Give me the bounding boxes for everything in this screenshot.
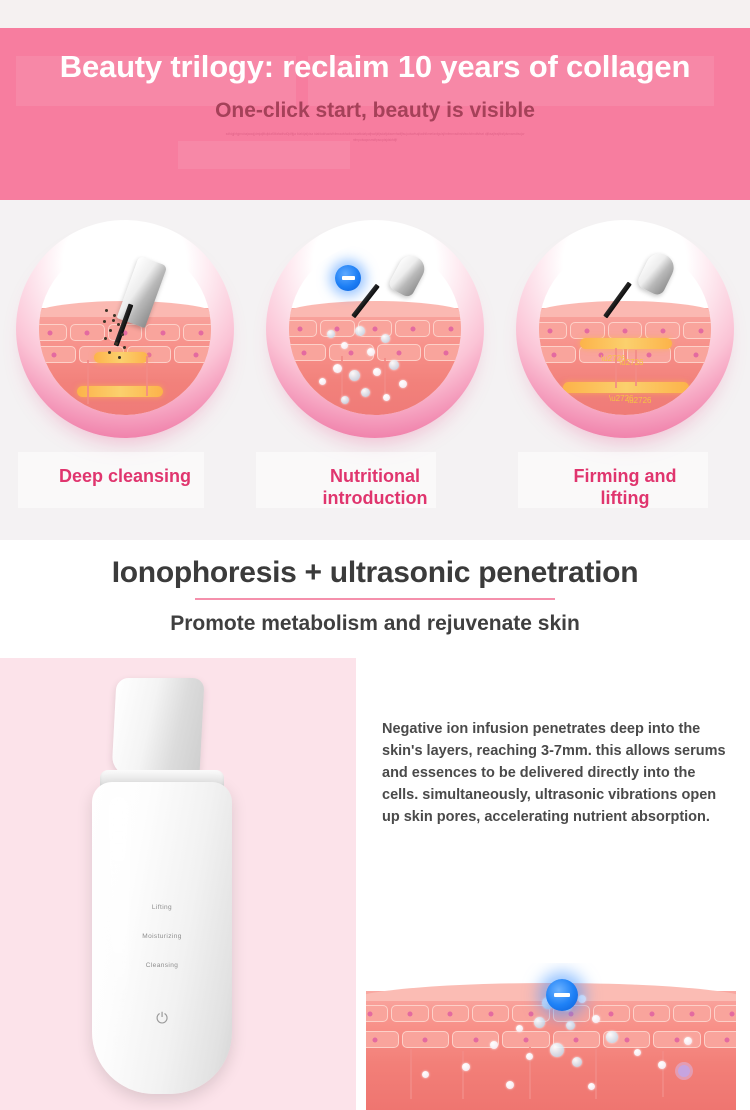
feature-label-line: Deep cleansing (59, 466, 191, 488)
circle-frame: \u2726 \u2726 \u2726 \u2726 (516, 220, 734, 438)
negative-ion-icon (546, 979, 578, 1011)
skin-cleansing-illustration (39, 243, 211, 415)
device-image: Lifting Moisturizing Cleansing ⏻ (74, 678, 274, 1098)
feature-label: Deep cleansing (59, 466, 191, 488)
skin-nutrition-illustration (289, 243, 461, 415)
feature-label: Firming and lifting (574, 466, 677, 509)
section-subtitle: Promote metabolism and rejuvenate skin (0, 612, 750, 636)
debris-particles (101, 309, 135, 361)
device-mode-lifting: Lifting (92, 904, 232, 911)
power-icon: ⏻ (92, 1010, 232, 1027)
skin-layer (366, 991, 736, 1110)
feature-label-line: Nutritional (323, 466, 428, 488)
hero-subtitle: One-click start, beauty is visible (0, 99, 750, 123)
mid-heading-section: Ionophoresis + ultrasonic penetration Pr… (0, 540, 750, 658)
subtitle-highlight-box (178, 141, 350, 169)
section-title: Ionophoresis + ultrasonic penetration (0, 556, 750, 590)
skin-layer: \u2726 \u2726 \u2726 \u2726 (539, 308, 711, 415)
feature-nutritional-introduction[interactable]: Nutritional introduction (250, 200, 500, 540)
description-panel: Negative ion infusion penetrates deep in… (356, 658, 750, 1110)
feature-firming-lifting[interactable]: \u2726 \u2726 \u2726 \u2726 Firming and … (500, 200, 750, 540)
feature-deep-cleansing[interactable]: Deep cleansing (0, 200, 250, 540)
skin-cross-section-illustration (366, 963, 736, 1110)
top-spacer-strip (0, 0, 750, 28)
description-paragraph: Negative ion infusion penetrates deep in… (382, 718, 732, 828)
hero-banner: Beauty trilogy: reclaim 10 years of coll… (0, 28, 750, 200)
negative-ion-icon (335, 265, 361, 291)
feature-label-line: Firming and (574, 466, 677, 488)
bottom-section: Lifting Moisturizing Cleansing ⏻ Negativ… (0, 658, 750, 1110)
device-mode-moisturizing: Moisturizing (92, 933, 232, 940)
device-mode-cleansing: Cleansing (92, 962, 232, 969)
circle-frame (266, 220, 484, 438)
skin-layer (289, 308, 461, 415)
feature-label-line: introduction (323, 488, 428, 510)
device-photo-panel: Lifting Moisturizing Cleansing ⏻ (0, 658, 356, 1110)
device-body: Lifting Moisturizing Cleansing ⏻ (92, 782, 232, 1094)
hero-title-wrap: Beauty trilogy: reclaim 10 years of coll… (50, 28, 700, 85)
feature-label-line: lifting (574, 488, 677, 510)
features-section: Deep cleansing (0, 200, 750, 540)
hero-title: Beauty trilogy: reclaim 10 years of coll… (50, 48, 700, 85)
minus-glyph (342, 276, 355, 280)
probe-head-icon (387, 251, 429, 299)
title-underline (195, 598, 555, 600)
nerve-cell (678, 1065, 690, 1077)
minus-glyph (554, 993, 570, 997)
device-probe-head (111, 678, 204, 776)
circle-frame (16, 220, 234, 438)
feature-label: Nutritional introduction (323, 466, 428, 509)
probe-head-icon (636, 249, 679, 297)
skin-firming-illustration: \u2726 \u2726 \u2726 \u2726 (539, 243, 711, 415)
hero-micro-text: sdfdgjhfgjmcbajwacjjdmjajlftujtdaf0lfafa… (225, 131, 525, 143)
device-mode-labels: Lifting Moisturizing Cleansing (92, 904, 232, 991)
